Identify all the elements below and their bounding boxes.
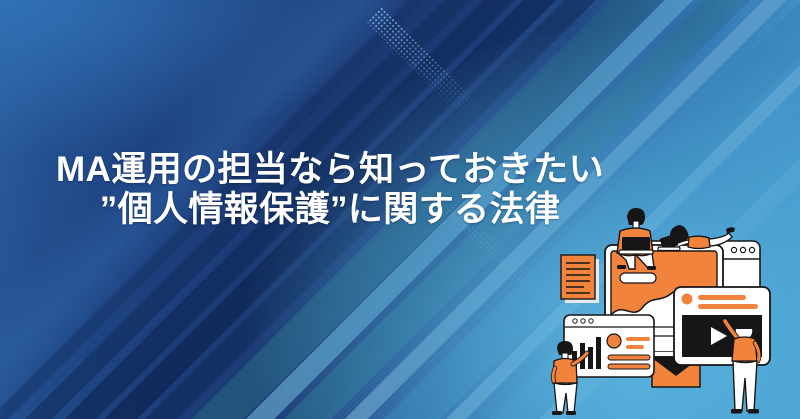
title-line-1: MA運用の担当なら知っておきたい (0, 150, 660, 190)
document-stack-icon (561, 255, 599, 303)
banner-title: MA運用の担当なら知っておきたい ”個人情報保護”に関する法律 (0, 150, 660, 229)
marketing-automation-illustration: .or{fill:#f2833c}.ord{fill:#dd7030}.wh{f… (548, 203, 796, 419)
blog-header-banner: MA運用の担当なら知っておきたい ”個人情報保護”に関する法律 .or{fill… (0, 0, 800, 419)
title-line-2: ”個人情報保護”に関する法律 (0, 190, 660, 230)
analytics-card-window (564, 315, 654, 377)
